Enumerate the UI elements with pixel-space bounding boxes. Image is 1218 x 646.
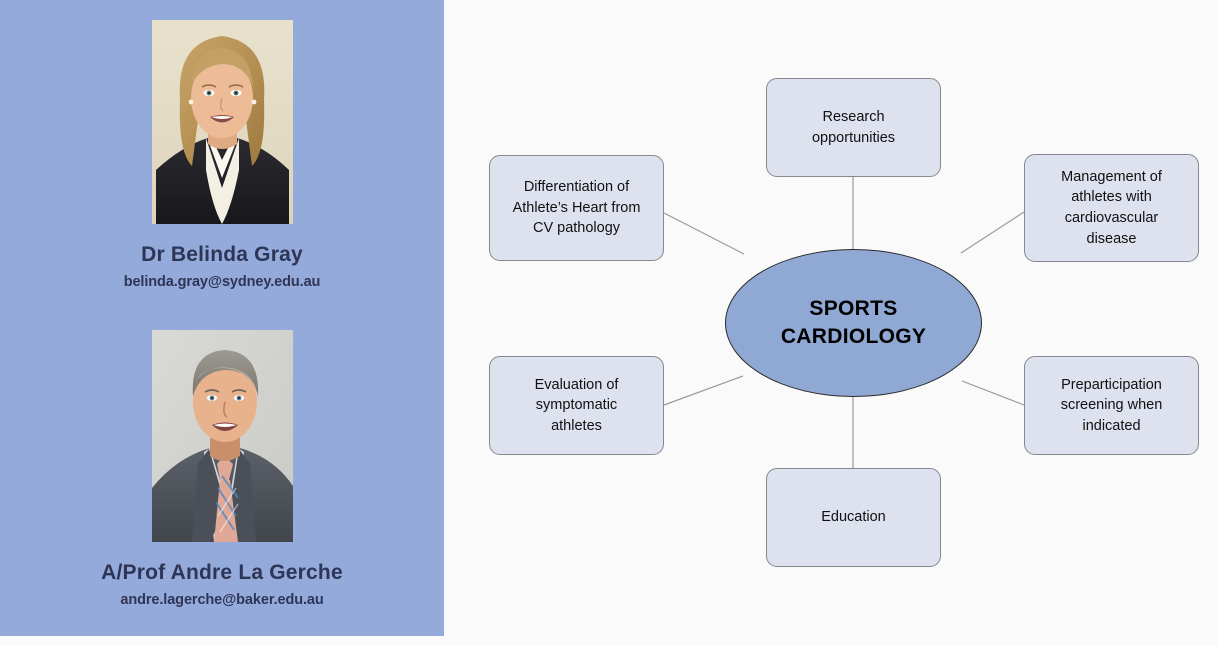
presenter-name: A/Prof Andre La Gerche xyxy=(0,560,444,585)
sports-cardiology-diagram: Research opportunities Management of ath… xyxy=(444,0,1218,646)
connector-prepart xyxy=(962,381,1024,405)
node-evaluation-symptomatic-athletes[interactable]: Evaluation of symptomatic athletes xyxy=(489,356,664,455)
presenter-email: belinda.gray@sydney.edu.au xyxy=(0,274,444,290)
avatar xyxy=(152,330,293,542)
portrait-andre-la-gerche-image xyxy=(152,330,293,542)
hub-sports-cardiology[interactable]: SPORTS CARDIOLOGY xyxy=(725,249,982,397)
presenter-email: andre.lagerche@baker.edu.au xyxy=(0,592,444,608)
node-differentiation-athletes-heart[interactable]: Differentiation of Athlete’s Heart from … xyxy=(489,155,664,261)
presenter-card-1: Dr Belinda Gray belinda.gray@sydney.edu.… xyxy=(0,20,444,290)
connector-differentiation xyxy=(664,213,744,254)
avatar xyxy=(152,20,293,224)
node-education[interactable]: Education xyxy=(766,468,941,567)
connector-evaluation xyxy=(664,376,743,405)
presenter-card-2: A/Prof Andre La Gerche andre.lagerche@ba… xyxy=(0,330,444,608)
presenter-name: Dr Belinda Gray xyxy=(0,242,444,267)
node-management-of-athletes[interactable]: Management of athletes with cardiovascul… xyxy=(1024,154,1199,262)
slide: Dr Belinda Gray belinda.gray@sydney.edu.… xyxy=(0,0,1218,646)
node-research-opportunities[interactable]: Research opportunities xyxy=(766,78,941,177)
portrait-belinda-gray-image xyxy=(152,20,293,224)
node-preparticipation-screening[interactable]: Preparticipation screening when indicate… xyxy=(1024,356,1199,455)
connector-management xyxy=(961,212,1024,253)
presenters-panel: Dr Belinda Gray belinda.gray@sydney.edu.… xyxy=(0,0,444,636)
